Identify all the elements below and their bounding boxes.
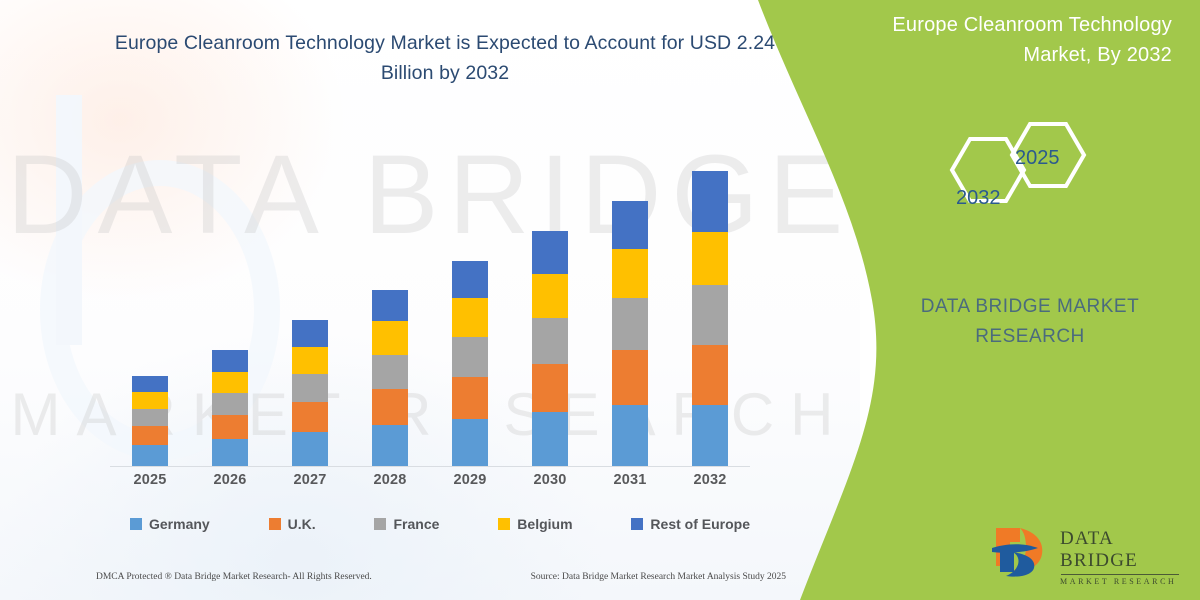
bar-segment-france bbox=[532, 318, 568, 364]
hexagon-2032-label: 2032 bbox=[956, 187, 1001, 210]
bar-column bbox=[110, 140, 190, 466]
infographic-canvas: DATA BRIDGE MARKET RESEARCH Europe Clean… bbox=[0, 0, 1200, 600]
bar-segment-belgium bbox=[132, 392, 168, 409]
bar-segment-germany bbox=[452, 419, 488, 466]
logo-wordmark: DATA BRIDGE MARKET RESEARCH bbox=[1060, 528, 1190, 586]
bar-segment-u-k bbox=[612, 350, 648, 405]
bar-segment-rest-of-europe bbox=[212, 350, 248, 372]
bar-segment-u-k bbox=[132, 426, 168, 445]
year-hexagons: 2025 2032 bbox=[930, 110, 1110, 230]
legend-swatch-icon bbox=[269, 518, 281, 530]
logo-name: DATA BRIDGE bbox=[1060, 528, 1190, 572]
x-tick-2030: 2030 bbox=[510, 472, 590, 498]
footer-copyright: DMCA Protected ® Data Bridge Market Rese… bbox=[96, 572, 372, 582]
bar-segment-rest-of-europe bbox=[532, 231, 568, 274]
legend-label: France bbox=[393, 516, 439, 532]
chart-legend: GermanyU.K.FranceBelgiumRest of Europe bbox=[130, 512, 750, 536]
legend-swatch-icon bbox=[631, 518, 643, 530]
logo-tagline: MARKET RESEARCH bbox=[1060, 577, 1190, 586]
stacked-bar bbox=[452, 261, 488, 466]
bar-segment-france bbox=[372, 355, 408, 389]
x-tick-2026: 2026 bbox=[190, 472, 270, 498]
bar-segment-belgium bbox=[372, 321, 408, 355]
panel-brand-text: DATA BRIDGE MARKET RESEARCH bbox=[880, 292, 1180, 352]
bar-segment-germany bbox=[532, 412, 568, 466]
legend-label: Belgium bbox=[517, 516, 572, 532]
bar-column bbox=[270, 140, 350, 466]
bar-segment-germany bbox=[692, 405, 728, 466]
bar-segment-rest-of-europe bbox=[372, 290, 408, 321]
legend-swatch-icon bbox=[130, 518, 142, 530]
company-logo: DATA BRIDGE MARKET RESEARCH bbox=[990, 522, 1190, 584]
stacked-bar bbox=[212, 350, 248, 466]
panel-brand-line-1: DATA BRIDGE MARKET bbox=[880, 292, 1180, 322]
legend-item-germany[interactable]: Germany bbox=[130, 516, 210, 532]
legend-item-belgium[interactable]: Belgium bbox=[498, 516, 572, 532]
bar-segment-u-k bbox=[372, 389, 408, 425]
bar-segment-rest-of-europe bbox=[292, 320, 328, 347]
legend-swatch-icon bbox=[374, 518, 386, 530]
x-tick-2025: 2025 bbox=[110, 472, 190, 498]
footer-source: Source: Data Bridge Market Research Mark… bbox=[531, 572, 786, 582]
bar-segment-u-k bbox=[292, 402, 328, 432]
bar-segment-rest-of-europe bbox=[452, 261, 488, 298]
bar-segment-germany bbox=[372, 425, 408, 466]
stacked-bar-chart bbox=[110, 140, 750, 466]
bar-segment-france bbox=[292, 374, 328, 402]
x-tick-2031: 2031 bbox=[590, 472, 670, 498]
stacked-bar bbox=[612, 201, 648, 466]
legend-swatch-icon bbox=[498, 518, 510, 530]
bar-column bbox=[670, 140, 750, 466]
x-axis-labels: 20252026202720282029203020312032 bbox=[110, 472, 750, 498]
logo-mark-icon bbox=[990, 522, 1052, 580]
stacked-bar bbox=[132, 376, 168, 466]
bar-column bbox=[430, 140, 510, 466]
bar-segment-france bbox=[132, 409, 168, 426]
legend-item-rest-of-europe[interactable]: Rest of Europe bbox=[631, 516, 750, 532]
legend-label: U.K. bbox=[288, 516, 316, 532]
bar-segment-belgium bbox=[532, 274, 568, 318]
bar-segment-u-k bbox=[212, 415, 248, 439]
x-tick-2029: 2029 bbox=[430, 472, 510, 498]
bar-segment-belgium bbox=[292, 347, 328, 374]
bar-column bbox=[350, 140, 430, 466]
stacked-bar bbox=[372, 290, 408, 466]
stacked-bar bbox=[692, 171, 728, 466]
x-axis-line bbox=[110, 466, 750, 467]
bar-segment-germany bbox=[292, 432, 328, 466]
bar-column bbox=[510, 140, 590, 466]
bar-segment-germany bbox=[612, 405, 648, 466]
x-tick-2032: 2032 bbox=[670, 472, 750, 498]
logo-divider bbox=[1061, 574, 1179, 575]
stacked-bar bbox=[532, 231, 568, 466]
panel-title: Europe Cleanroom Technology Market, By 2… bbox=[872, 10, 1172, 70]
bar-segment-belgium bbox=[452, 298, 488, 337]
bar-segment-u-k bbox=[692, 345, 728, 405]
bar-segment-rest-of-europe bbox=[612, 201, 648, 249]
stacked-bar bbox=[292, 320, 328, 466]
legend-item-france[interactable]: France bbox=[374, 516, 439, 532]
x-tick-2028: 2028 bbox=[350, 472, 430, 498]
panel-brand-line-2: RESEARCH bbox=[880, 322, 1180, 352]
hexagon-2025-label: 2025 bbox=[1015, 147, 1060, 170]
bar-segment-belgium bbox=[612, 249, 648, 298]
chart-title: Europe Cleanroom Technology Market is Ex… bbox=[100, 28, 790, 88]
bar-segment-france bbox=[452, 337, 488, 377]
bar-segment-rest-of-europe bbox=[692, 171, 728, 232]
x-tick-2027: 2027 bbox=[270, 472, 350, 498]
bar-segment-germany bbox=[212, 439, 248, 466]
bar-segment-u-k bbox=[452, 377, 488, 419]
bar-segment-france bbox=[612, 298, 648, 350]
bar-column bbox=[190, 140, 270, 466]
bar-column bbox=[590, 140, 670, 466]
bar-segment-germany bbox=[132, 445, 168, 466]
bar-segment-france bbox=[212, 393, 248, 415]
background-b-stem bbox=[56, 95, 82, 345]
bar-segment-belgium bbox=[212, 372, 248, 393]
legend-item-u-k[interactable]: U.K. bbox=[269, 516, 316, 532]
legend-label: Germany bbox=[149, 516, 210, 532]
legend-label: Rest of Europe bbox=[650, 516, 750, 532]
bar-segment-u-k bbox=[532, 364, 568, 412]
bar-segment-france bbox=[692, 285, 728, 345]
bar-segment-belgium bbox=[692, 232, 728, 285]
bar-segment-rest-of-europe bbox=[132, 376, 168, 392]
footer: DMCA Protected ® Data Bridge Market Rese… bbox=[96, 568, 786, 586]
